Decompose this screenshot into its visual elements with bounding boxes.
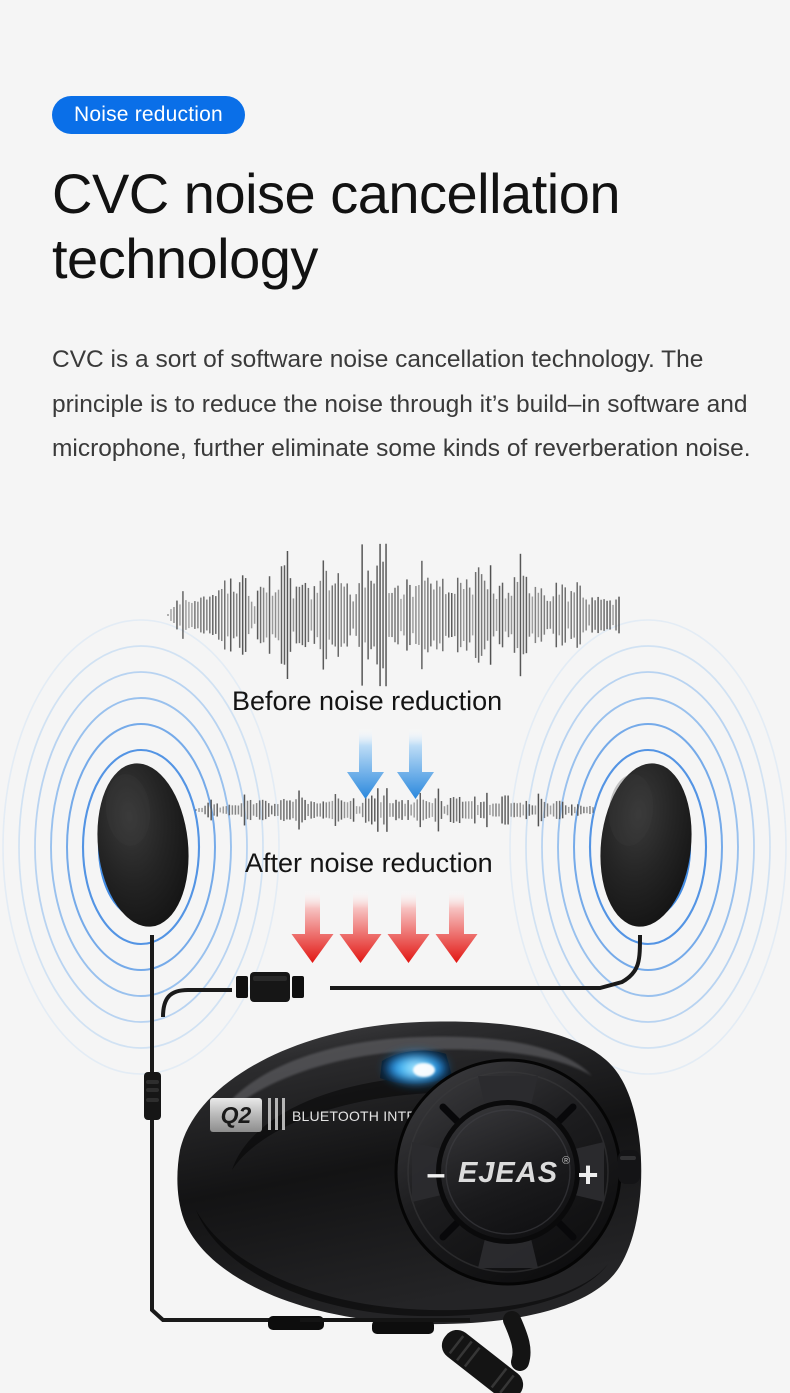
right-earbud: [593, 759, 700, 932]
illustration-stage: Q2 BLUETOOTH INTERCOM: [0, 520, 790, 1393]
blue-arrow-2: [397, 728, 434, 799]
side-knob[interactable]: [618, 1150, 640, 1184]
brand-registered-mark: ®: [562, 1155, 570, 1167]
cable-coupler: [236, 972, 304, 1002]
reduced-output-waveform: [196, 788, 593, 832]
product-feature-page: Noise reduction CVC noise cancellation t…: [0, 0, 790, 1393]
loud-input-waveform: [168, 544, 619, 687]
before-label: Before noise reduction: [232, 686, 502, 717]
after-label: After noise reduction: [245, 848, 493, 879]
right-earbud-cable: [330, 935, 640, 988]
section-badge: Noise reduction: [52, 96, 245, 134]
headset-foot-right: [372, 1320, 434, 1334]
volume-down-button[interactable]: –: [427, 1155, 446, 1193]
model-badge: Q2: [210, 1098, 262, 1132]
badge-separator: [268, 1098, 285, 1130]
noise-reduction-diagram: Q2 BLUETOOTH INTERCOM: [0, 520, 790, 1393]
blue-down-arrows: [347, 728, 434, 799]
model-badge-text: Q2: [221, 1102, 252, 1128]
red-arrow-2: [340, 890, 382, 963]
red-arrow-3: [388, 890, 430, 963]
description-paragraph: CVC is a sort of software noise cancella…: [52, 338, 758, 472]
volume-up-button[interactable]: +: [577, 1154, 598, 1195]
page-title: CVC noise cancellation technology: [52, 162, 742, 292]
left-earbud: [90, 759, 197, 932]
bluetooth-intercom-headset: Q2 BLUETOOTH INTERCOM: [177, 1021, 641, 1393]
red-arrow-4: [436, 890, 478, 963]
left-cable-module: [144, 1072, 161, 1120]
red-down-arrows: [292, 890, 478, 963]
brand-logo: EJEAS: [458, 1157, 558, 1189]
red-arrow-1: [292, 890, 334, 963]
